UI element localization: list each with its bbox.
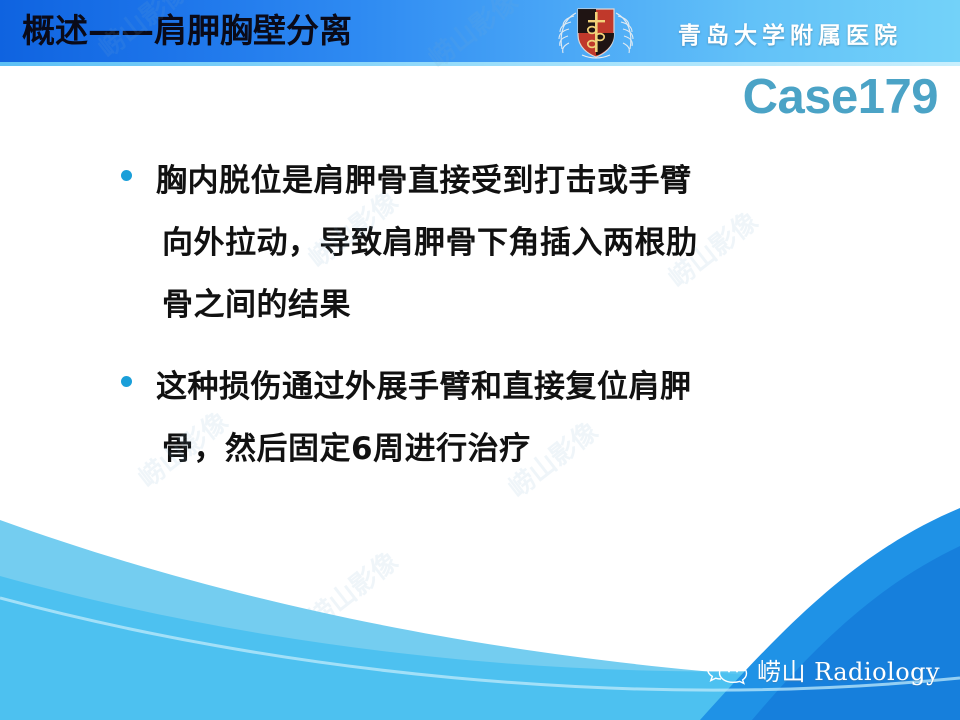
wechat-watermark: 崂山 Radiology [706, 652, 940, 687]
hospital-name-label: 青岛大学附属医院 [678, 16, 902, 50]
bullet-text-line: 这种损伤通过外展手臂和直接复位肩胛 [156, 356, 852, 418]
watermark-label: 崂山 Radiology [757, 652, 940, 687]
bullet-dot-icon [121, 170, 132, 181]
list-item: 这种损伤通过外展手臂和直接复位肩胛 骨，然后固定6周进行治疗 [112, 356, 852, 480]
list-item: 胸内脱位是肩胛骨直接受到打击或手臂 向外拉动，导致肩胛骨下角插入两根肋 骨之间的… [112, 150, 852, 336]
slide: 概述——肩胛胸壁分离 [0, 0, 960, 720]
header-underline [0, 62, 960, 66]
bullet-text-line: 骨之间的结果 [156, 274, 852, 336]
wechat-icon [706, 655, 748, 685]
bullet-text-line: 向外拉动，导致肩胛骨下角插入两根肋 [156, 212, 852, 274]
bullet-text-line: 骨，然后固定6周进行治疗 [156, 418, 852, 480]
hospital-crest-icon [552, 3, 640, 61]
bullet-list: 胸内脱位是肩胛骨直接受到打击或手臂 向外拉动，导致肩胛骨下角插入两根肋 骨之间的… [112, 150, 852, 500]
bullet-text-line: 胸内脱位是肩胛骨直接受到打击或手臂 [156, 150, 852, 212]
page-title: 概述——肩胛胸壁分离 [22, 10, 352, 52]
case-number-label: Case179 [743, 68, 938, 126]
bullet-dot-icon [121, 376, 132, 387]
slide-header-bar: 概述——肩胛胸壁分离 [0, 0, 960, 62]
